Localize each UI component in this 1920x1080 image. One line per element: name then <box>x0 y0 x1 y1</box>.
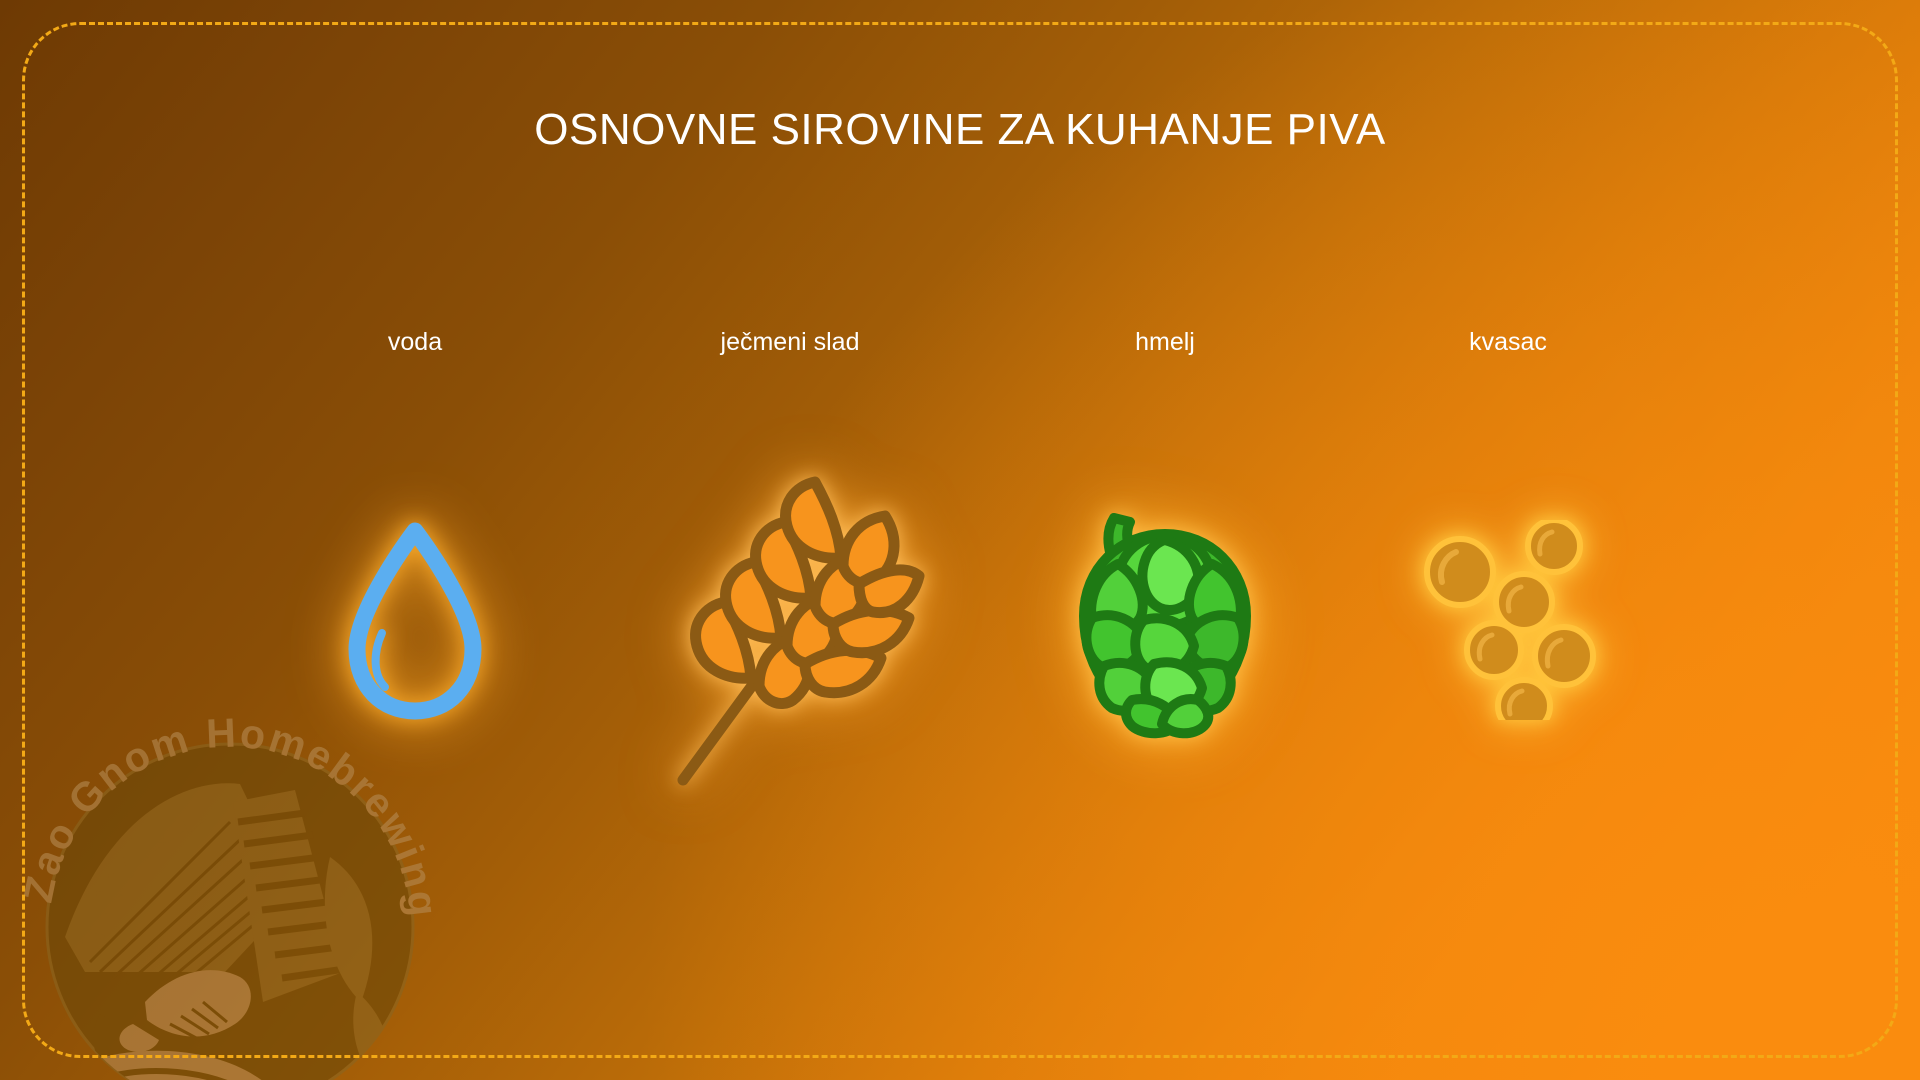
barley-ear-icon <box>630 420 950 820</box>
ingredient-item-kvasac: kvasac <box>1348 0 1668 1080</box>
hop-cone-icon <box>1005 420 1325 820</box>
water-drop-icon <box>255 420 575 820</box>
ingredient-label-voda: voda <box>255 330 575 355</box>
ingredient-label-jecmeni-slad: ječmeni slad <box>630 330 950 355</box>
ingredient-item-hmelj: hmelj <box>1005 0 1325 1080</box>
slide-canvas: Zao Gnom Homebrewing OSNOVNE SIROVINE ZA… <box>0 0 1920 1080</box>
page-title: OSNOVNE SIROVINE ZA KUHANJE PIVA <box>0 108 1920 152</box>
ingredient-item-voda: voda <box>255 0 575 1080</box>
yeast-cells-icon <box>1348 420 1668 820</box>
ingredient-item-jecmeni-slad: ječmeni slad <box>630 0 950 1080</box>
ingredient-label-hmelj: hmelj <box>1005 330 1325 355</box>
ingredient-label-kvasac: kvasac <box>1348 330 1668 355</box>
